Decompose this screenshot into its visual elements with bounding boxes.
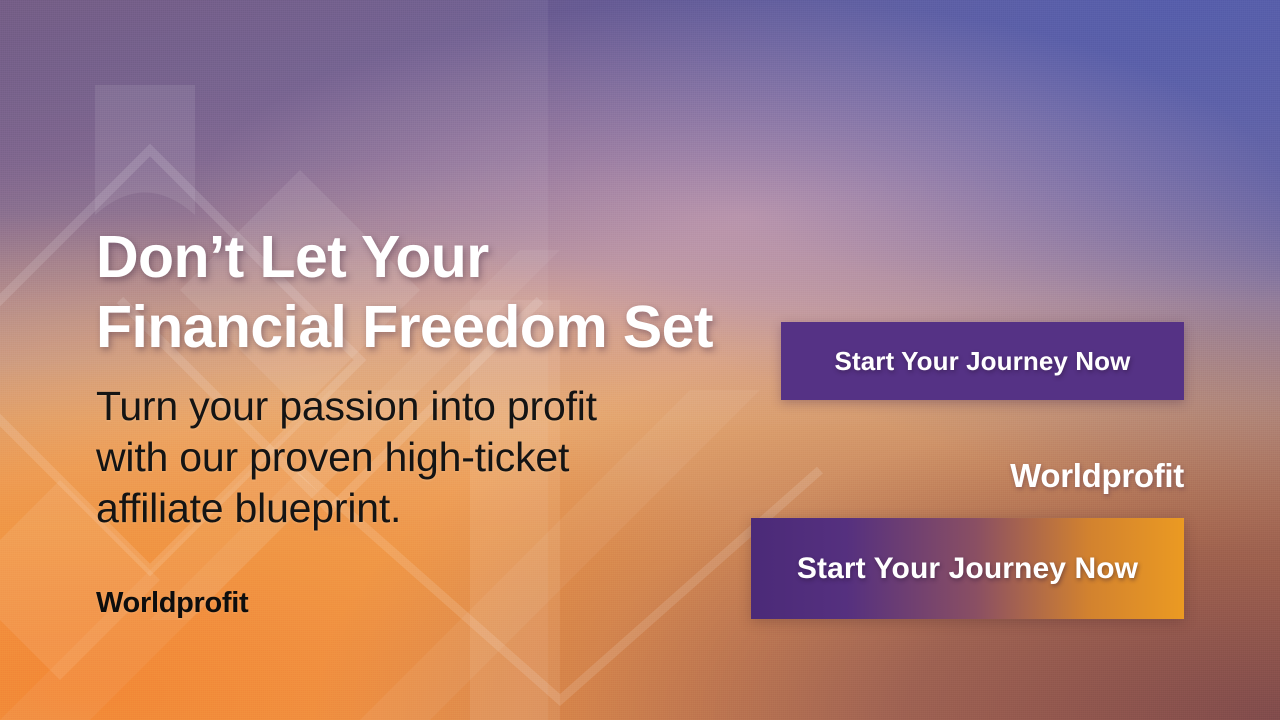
body-copy: Turn your passion into profit with our p… [96,381,696,534]
start-journey-primary-label: Start Your Journey Now [835,346,1131,377]
brand-wordmark-dark: Worldprofit [96,587,248,620]
start-journey-secondary-button[interactable]: Start Your Journey Now [751,518,1184,619]
start-journey-primary-button[interactable]: Start Your Journey Now [781,322,1184,400]
promo-banner: Don’t Let Your Financial Freedom Set Tur… [0,0,1280,720]
page-title: Don’t Let Your Financial Freedom Set [96,222,816,362]
brand-wordmark-light: Worldprofit [1010,457,1184,495]
start-journey-secondary-label: Start Your Journey Now [797,552,1138,586]
